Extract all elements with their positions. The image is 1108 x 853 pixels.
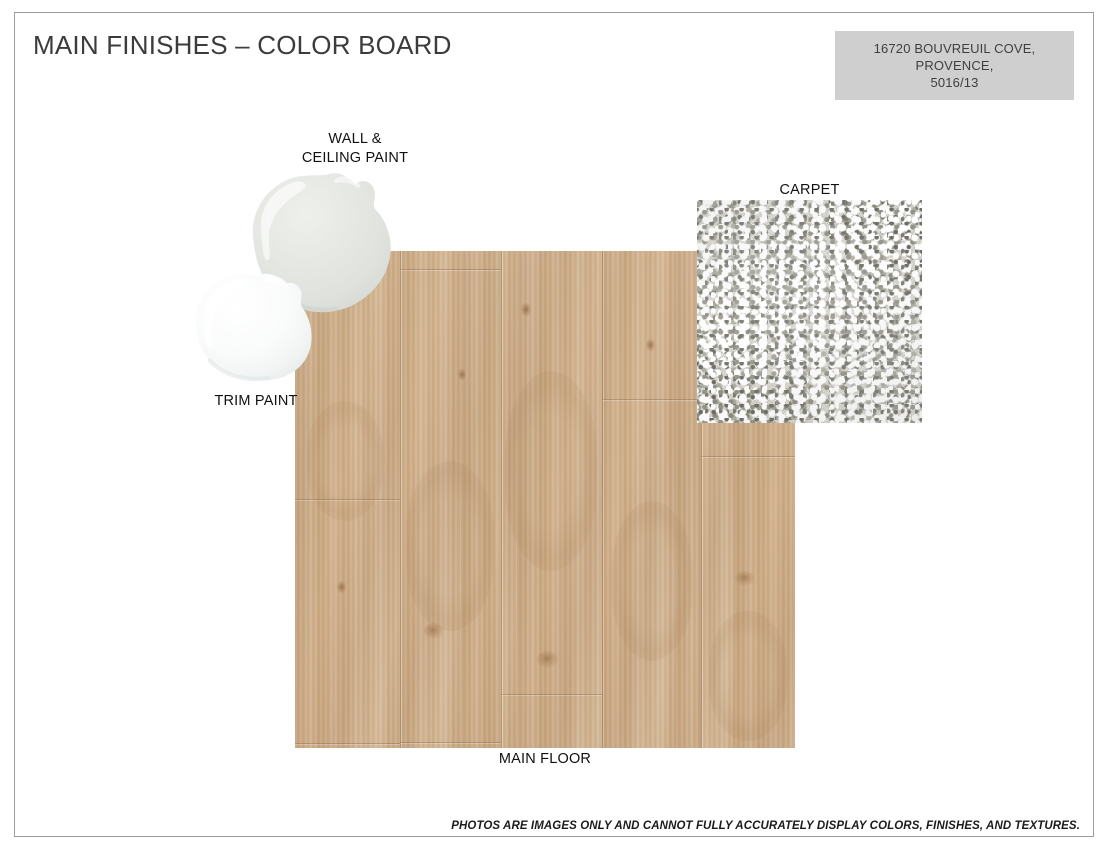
wood-knot [735, 571, 755, 586]
wood-figure [307, 401, 383, 521]
plank-butt-joint [501, 694, 602, 695]
floor-plank-group-center-left [400, 251, 501, 748]
wood-figure [709, 611, 787, 741]
page-title: MAIN FINISHES – COLOR BOARD [33, 30, 452, 61]
floor-plank-group-center [501, 251, 602, 748]
trim-paint-label: TRIM PAINT [181, 392, 331, 411]
plank-seam [602, 251, 603, 748]
wood-knot [337, 581, 346, 593]
wood-knot [537, 651, 559, 668]
wood-knot [521, 303, 531, 316]
wood-figure [505, 371, 597, 571]
floor-plank-group-center-right [602, 251, 701, 748]
plank-seam [501, 251, 502, 748]
wood-figure [406, 461, 494, 631]
carpet-label: CARPET [717, 181, 902, 200]
footer-disclaimer: PHOTOS ARE IMAGES ONLY AND CANNOT FULLY … [451, 820, 1080, 832]
plank-butt-joint [400, 269, 501, 270]
plank-butt-joint [400, 742, 501, 743]
plank-butt-joint [701, 456, 795, 457]
trim-paint-swatch [190, 270, 316, 382]
address-plaque: 16720 BOUVREUIL COVE, PROVENCE, 5016/13 [835, 31, 1074, 100]
carpet-fiber-texture [697, 200, 922, 423]
plank-butt-joint [602, 399, 701, 400]
plank-seam [400, 251, 401, 748]
wall-ceiling-paint-label: WALL & CEILING PAINT [275, 130, 435, 167]
plank-butt-joint [295, 743, 400, 744]
main-floor-label: MAIN FLOOR [470, 750, 620, 769]
carpet-swatch [697, 200, 922, 423]
wood-knot [424, 623, 444, 639]
address-line-1: 16720 BOUVREUIL COVE, [874, 40, 1036, 57]
address-line-3: 5016/13 [930, 74, 978, 91]
wood-knot [646, 339, 655, 351]
wood-knot [458, 369, 466, 380]
paint-blob-shape [190, 270, 316, 382]
wood-grain-texture [602, 251, 701, 748]
wood-figure [612, 501, 692, 661]
color-board-page: MAIN FINISHES – COLOR BOARD 16720 BOUVRE… [0, 0, 1108, 853]
address-line-2: PROVENCE, [916, 57, 994, 74]
